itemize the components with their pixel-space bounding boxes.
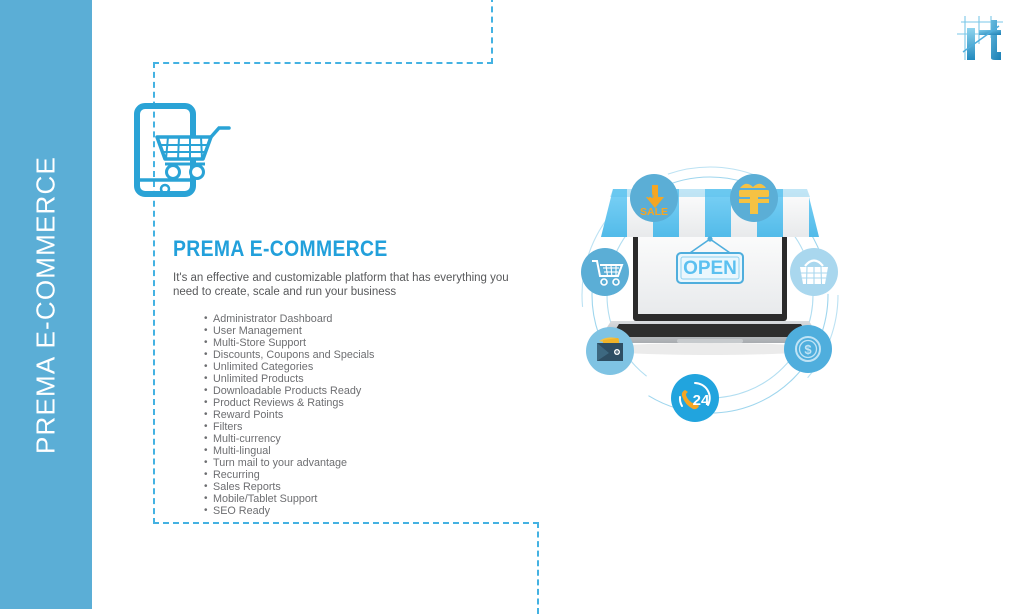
svg-text:$: $ [804,342,812,357]
svg-text:SALE: SALE [640,206,668,218]
list-item: Multi-lingual [213,445,523,457]
dashed-line-top-horizontal [153,62,493,64]
wallet-money-icon [586,327,634,375]
page-subtitle: It's an effective and customizable platf… [173,271,518,299]
shopping-cart-icon [581,248,629,296]
it-logo [951,14,1007,66]
gift-box-icon [730,174,778,222]
open-sign-text: OPEN [683,258,737,279]
list-item: Recurring [213,469,523,481]
page-title: PREMA E-COMMERCE [173,236,481,262]
list-item: Filters [213,421,523,433]
list-item: Sales Reports [213,481,523,493]
list-item: Product Reviews & Ratings [213,397,523,409]
list-item: Unlimited Categories [213,361,523,373]
list-item: Reward Points [213,409,523,421]
list-item: SEO Ready [213,505,523,517]
support-24-icon: 24 [671,374,719,422]
list-item: Downloadable Products Ready [213,385,523,397]
sale-tag-icon: % SALE [630,174,678,222]
list-item: User Management [213,325,523,337]
mobile-shopping-cart-icon [133,98,233,203]
list-item: Discounts, Coupons and Specials [213,349,523,361]
list-item: Unlimited Products [213,373,523,385]
shopping-basket-icon [790,248,838,296]
dashed-line-top-vertical [491,0,493,64]
content-block: PREMA E-COMMERCE It's an effective and c… [173,236,523,517]
sidebar-title: PREMA E-COMMERCE [31,155,62,453]
dashed-line-bottom-horizontal [153,522,539,524]
dashed-line-bottom-vertical [537,522,539,614]
svg-text:%: % [646,191,653,200]
sidebar: PREMA E-COMMERCE [0,0,92,609]
list-item: Mobile/Tablet Support [213,493,523,505]
support-24-label: 24 [693,392,710,409]
feature-list: Administrator Dashboard User Management … [173,313,523,517]
list-item: Administrator Dashboard [213,313,523,325]
list-item: Multi-currency [213,433,523,445]
list-item: Multi-Store Support [213,337,523,349]
ecommerce-illustration: OPEN % SALE [565,155,855,435]
dollar-coin-icon: $ [784,325,832,373]
list-item: Turn mail to your advantage [213,457,523,469]
